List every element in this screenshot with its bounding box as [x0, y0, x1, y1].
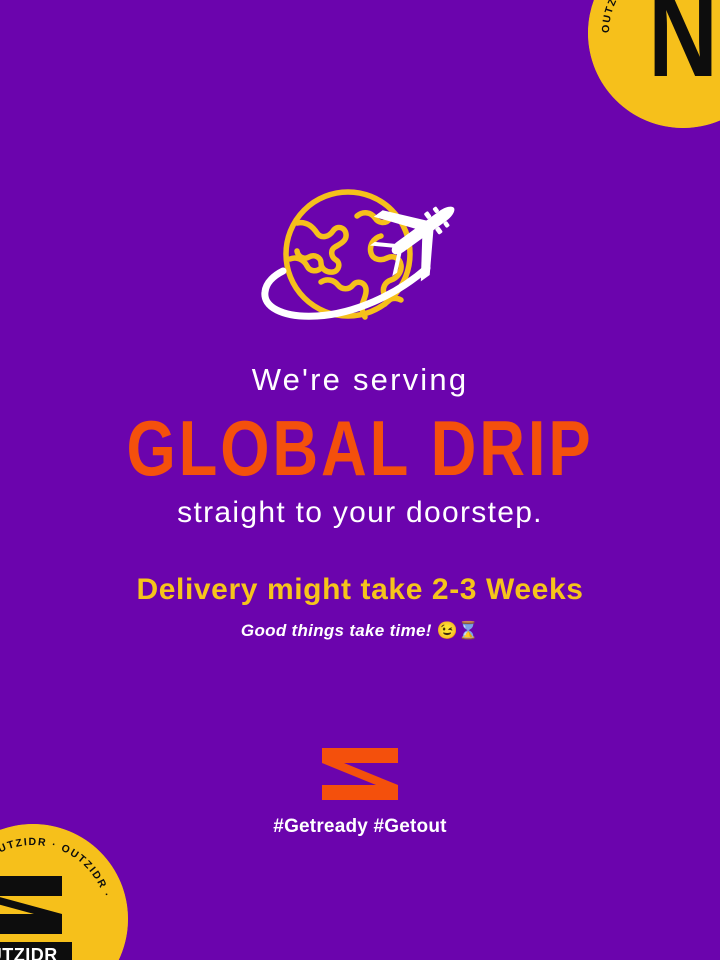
reassurance-text: Good things take time! 😉⌛: [0, 622, 720, 640]
poster-canvas: OUTZIDR · OUTZIDR · OUTZIDR · N OUTZIDR …: [0, 0, 720, 960]
subheadline-text: straight to your doorstep.: [0, 497, 720, 529]
badge-wordmark-text: OUTZIDR: [0, 945, 58, 960]
wink-hourglass-emoji: 😉⌛: [437, 621, 479, 640]
eyebrow-text: We're serving: [0, 364, 720, 397]
hashtags-text: #Getready #Getout: [0, 816, 720, 838]
reassurance-label: Good things take time!: [241, 621, 432, 640]
delivery-notice-text: Delivery might take 2-3 Weeks: [0, 574, 720, 606]
badge-top-right: OUTZIDR · OUTZIDR · OUTZIDR · N: [588, 0, 720, 128]
badge-center-glyph-top-right: N: [648, 0, 718, 103]
copy-block: We're serving GLOBAL DRIP straight to yo…: [0, 364, 720, 639]
footer-block: #Getready #Getout: [0, 746, 720, 838]
globe-airplane-icon: [235, 176, 485, 344]
page-title: GLOBAL DRIP: [14, 409, 705, 487]
badge-bottom-left: OUTZIDR · OUTZIDR · OUTZIDR · OUTZIDR: [0, 824, 128, 960]
outzidr-z-logo: [320, 746, 400, 802]
